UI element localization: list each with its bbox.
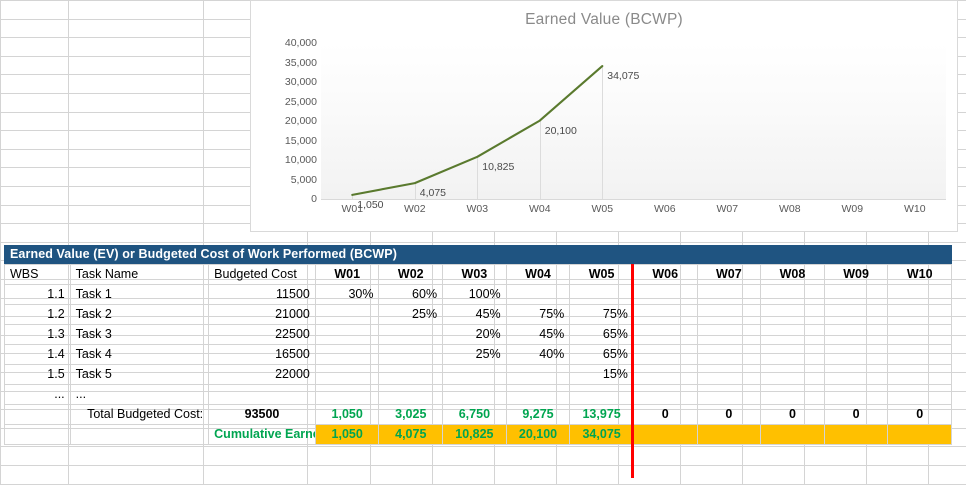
column-header-week-w04: W04 — [506, 265, 570, 285]
chart-title: Earned Value (BCWP) — [251, 11, 957, 29]
cell-task-name[interactable]: Task 4 — [70, 345, 209, 365]
cell-percent-complete[interactable]: 40% — [506, 345, 570, 365]
cell-percent-complete[interactable] — [315, 305, 379, 325]
cell-cumulative-earned-value — [888, 425, 952, 445]
chart-y-tick-label: 20,000 — [253, 116, 317, 126]
cell-percent-complete[interactable]: 15% — [570, 365, 634, 385]
cell-percent-complete[interactable]: 20% — [443, 325, 507, 345]
cell-percent-complete[interactable]: 45% — [443, 305, 507, 325]
cell-percent-complete[interactable] — [697, 285, 761, 305]
cell-percent-complete[interactable] — [506, 385, 570, 405]
cell-percent-complete[interactable] — [824, 285, 888, 305]
label-cumulative-earned-value: Cumulative Earned Value (EV) — [209, 425, 316, 445]
grid-row-line — [0, 242, 966, 243]
column-header-task-name: Task Name — [70, 265, 209, 285]
chart-x-axis-line — [321, 199, 946, 200]
cell-period-earned-value: 0 — [824, 405, 888, 425]
cell-cumulative-earned-value — [761, 425, 825, 445]
chart-x-tick-label: W02 — [384, 203, 447, 215]
cell-percent-complete[interactable] — [824, 305, 888, 325]
cell-period-earned-value: 0 — [633, 405, 697, 425]
chart-y-tick-label: 35,000 — [253, 58, 317, 68]
cell-percent-complete[interactable] — [506, 365, 570, 385]
chart-x-tick-label: W09 — [821, 203, 884, 215]
table-row[interactable]: 1.4Task 41650025%40%65% — [5, 345, 952, 365]
cell-percent-complete[interactable]: 25% — [379, 305, 443, 325]
cell-percent-complete[interactable]: 75% — [570, 305, 634, 325]
table-row[interactable]: ...... — [5, 385, 952, 405]
cell-budgeted-cost[interactable]: 22000 — [209, 365, 316, 385]
cell-budgeted-cost[interactable]: 21000 — [209, 305, 316, 325]
cell-cumulative-earned-value: 4,075 — [379, 425, 443, 445]
cell-percent-complete[interactable] — [379, 365, 443, 385]
chart-y-tick-label: 25,000 — [253, 97, 317, 107]
chart-data-label: 4,075 — [420, 187, 446, 199]
cell-cumulative-earned-value: 20,100 — [506, 425, 570, 445]
chart-y-tick-label: 10,000 — [253, 155, 317, 165]
chart-x-tick-label: W07 — [696, 203, 759, 215]
chart-y-tick-label: 40,000 — [253, 38, 317, 48]
cell-wbs[interactable]: 1.5 — [5, 365, 71, 385]
cell-task-name[interactable]: Task 3 — [70, 325, 209, 345]
cell-total-budgeted-cost: 93500 — [209, 405, 316, 425]
cell-percent-complete[interactable] — [633, 385, 697, 405]
chart-ev-line — [321, 43, 946, 199]
cell-wbs[interactable]: 1.1 — [5, 285, 71, 305]
column-header-week-w05: W05 — [570, 265, 634, 285]
table-cumulative-row: Cumulative Earned Value (EV)1,0504,07510… — [5, 425, 952, 445]
table-header-row: WBSTask NameBudgeted CostW01W02W03W04W05… — [5, 265, 952, 285]
column-header-week-w06: W06 — [633, 265, 697, 285]
cell-budgeted-cost[interactable]: 22500 — [209, 325, 316, 345]
chart-x-tick-label: W06 — [634, 203, 697, 215]
cell-percent-complete[interactable]: 45% — [506, 325, 570, 345]
cell-percent-complete[interactable] — [888, 365, 952, 385]
cell-percent-complete[interactable]: 65% — [570, 345, 634, 365]
cell-percent-complete[interactable] — [824, 365, 888, 385]
cell-percent-complete[interactable] — [315, 365, 379, 385]
cell-percent-complete[interactable] — [633, 345, 697, 365]
cell-wbs[interactable]: 1.3 — [5, 325, 71, 345]
cell-percent-complete[interactable] — [761, 345, 825, 365]
cell-empty — [5, 425, 71, 445]
cell-period-earned-value: 0 — [761, 405, 825, 425]
chart-x-tick-label: W04 — [509, 203, 572, 215]
column-header-week-w03: W03 — [443, 265, 507, 285]
column-header-wbs: WBS — [5, 265, 71, 285]
column-header-week-w10: W10 — [888, 265, 952, 285]
cell-cumulative-earned-value: 34,075 — [570, 425, 634, 445]
cell-budgeted-cost[interactable]: 16500 — [209, 345, 316, 365]
cell-cumulative-earned-value: 1,050 — [315, 425, 379, 445]
cell-percent-complete[interactable] — [761, 325, 825, 345]
chart-x-tick-label: W08 — [759, 203, 822, 215]
cell-period-earned-value: 3,025 — [379, 405, 443, 425]
cell-percent-complete[interactable] — [888, 325, 952, 345]
cell-percent-complete[interactable] — [888, 385, 952, 405]
chart-y-axis: 40,00035,00030,00025,00020,00015,00010,0… — [251, 43, 317, 199]
cell-percent-complete[interactable] — [888, 285, 952, 305]
cell-percent-complete[interactable] — [761, 305, 825, 325]
table-total-row: Total Budgeted Cost:935001,0503,0256,750… — [5, 405, 952, 425]
grid-row-line — [0, 446, 966, 447]
cell-percent-complete[interactable] — [315, 385, 379, 405]
chart-x-tick-label: W05 — [571, 203, 634, 215]
table-row[interactable]: 1.2Task 22100025%45%75%75% — [5, 305, 952, 325]
cell-period-earned-value: 13,975 — [570, 405, 634, 425]
cell-cumulative-earned-value — [697, 425, 761, 445]
cell-percent-complete[interactable] — [633, 285, 697, 305]
table-row[interactable]: 1.1Task 11150030%60%100% — [5, 285, 952, 305]
grid-row-line — [0, 465, 966, 466]
cell-percent-complete[interactable]: 30% — [315, 285, 379, 305]
chart-x-tick-label: W03 — [446, 203, 509, 215]
cell-percent-complete[interactable] — [761, 285, 825, 305]
cell-percent-complete[interactable] — [697, 345, 761, 365]
cell-empty — [5, 405, 71, 425]
cell-percent-complete[interactable] — [824, 325, 888, 345]
cell-percent-complete[interactable] — [888, 345, 952, 365]
cell-wbs[interactable]: 1.2 — [5, 305, 71, 325]
cell-percent-complete[interactable] — [570, 385, 634, 405]
column-header-budgeted-cost: Budgeted Cost — [209, 265, 316, 285]
cell-task-name[interactable]: ... — [70, 385, 209, 405]
cell-percent-complete[interactable] — [824, 385, 888, 405]
cell-percent-complete[interactable] — [379, 325, 443, 345]
chart-x-tick-label: W10 — [884, 203, 947, 215]
cell-percent-complete[interactable] — [379, 345, 443, 365]
cell-wbs[interactable]: ... — [5, 385, 71, 405]
earned-value-chart[interactable]: Earned Value (BCWP) 40,00035,00030,00025… — [250, 0, 958, 232]
table-row[interactable]: 1.3Task 32250020%45%65% — [5, 325, 952, 345]
cell-cumulative-earned-value: 10,825 — [443, 425, 507, 445]
cell-period-earned-value: 0 — [888, 405, 952, 425]
cell-percent-complete[interactable] — [633, 305, 697, 325]
cell-budgeted-cost[interactable] — [209, 385, 316, 405]
cell-percent-complete[interactable]: 100% — [443, 285, 507, 305]
spreadsheet-canvas: Earned Value (BCWP) 40,00035,00030,00025… — [0, 0, 966, 485]
label-total-budgeted-cost: Total Budgeted Cost: — [70, 405, 209, 425]
cell-percent-complete[interactable] — [443, 385, 507, 405]
chart-y-tick-label: 5,000 — [253, 175, 317, 185]
cell-period-earned-value: 9,275 — [506, 405, 570, 425]
table-grid: WBSTask NameBudgeted CostW01W02W03W04W05… — [4, 264, 952, 445]
cell-percent-complete[interactable] — [761, 385, 825, 405]
cell-percent-complete[interactable]: 25% — [443, 345, 507, 365]
cell-cumulative-earned-value — [824, 425, 888, 445]
cell-cumulative-earned-value — [633, 425, 697, 445]
table-band-title: Earned Value (EV) or Budgeted Cost of Wo… — [4, 245, 952, 264]
cell-budgeted-cost[interactable]: 11500 — [209, 285, 316, 305]
chart-data-label: 34,075 — [607, 70, 639, 82]
column-header-week-w02: W02 — [379, 265, 443, 285]
chart-y-tick-label: 30,000 — [253, 77, 317, 87]
cell-wbs[interactable]: 1.4 — [5, 345, 71, 365]
cell-percent-complete[interactable] — [761, 365, 825, 385]
cell-percent-complete[interactable] — [824, 345, 888, 365]
cell-percent-complete[interactable] — [443, 365, 507, 385]
cell-empty — [70, 425, 209, 445]
cell-percent-complete[interactable] — [315, 345, 379, 365]
cell-percent-complete[interactable] — [697, 385, 761, 405]
cell-percent-complete[interactable] — [888, 305, 952, 325]
column-header-week-w07: W07 — [697, 265, 761, 285]
column-header-week-w09: W09 — [824, 265, 888, 285]
cell-task-name[interactable]: Task 2 — [70, 305, 209, 325]
chart-y-tick-label: 0 — [253, 194, 317, 204]
cell-percent-complete[interactable] — [570, 285, 634, 305]
cell-percent-complete[interactable] — [379, 385, 443, 405]
table-row[interactable]: 1.5Task 52200015% — [5, 365, 952, 385]
chart-y-tick-label: 15,000 — [253, 136, 317, 146]
cell-percent-complete[interactable] — [697, 365, 761, 385]
cell-percent-complete[interactable]: 65% — [570, 325, 634, 345]
column-header-week-w08: W08 — [761, 265, 825, 285]
chart-data-label: 10,825 — [482, 161, 514, 173]
cell-percent-complete[interactable] — [633, 365, 697, 385]
cell-percent-complete[interactable] — [506, 285, 570, 305]
cell-period-earned-value: 6,750 — [443, 405, 507, 425]
cell-percent-complete[interactable]: 75% — [506, 305, 570, 325]
cell-period-earned-value: 1,050 — [315, 405, 379, 425]
chart-data-label: 1,050 — [357, 199, 383, 211]
cell-task-name[interactable]: Task 1 — [70, 285, 209, 305]
cell-percent-complete[interactable] — [697, 305, 761, 325]
cell-percent-complete[interactable] — [315, 325, 379, 345]
cell-period-earned-value: 0 — [697, 405, 761, 425]
chart-data-label: 20,100 — [545, 125, 577, 137]
cell-task-name[interactable]: Task 5 — [70, 365, 209, 385]
cell-percent-complete[interactable] — [697, 325, 761, 345]
column-header-week-w01: W01 — [315, 265, 379, 285]
status-date-cutoff-line — [631, 264, 634, 478]
cell-percent-complete[interactable]: 60% — [379, 285, 443, 305]
cell-percent-complete[interactable] — [633, 325, 697, 345]
